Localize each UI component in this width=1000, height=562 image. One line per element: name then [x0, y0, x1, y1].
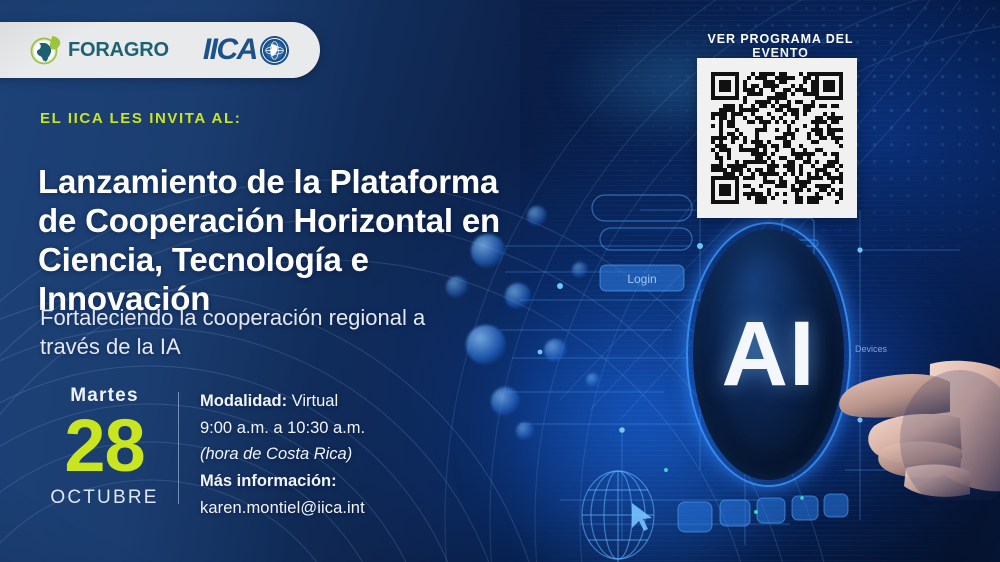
detail-email[interactable]: karen.montiel@iica.int: [200, 495, 460, 522]
date-month: OCTUBRE: [42, 487, 167, 509]
qr-code-panel[interactable]: [697, 58, 857, 218]
eyebrow-text: EL IICA LES INVITA AL:: [40, 110, 241, 127]
iica-logo: IICA: [203, 33, 290, 67]
vertical-divider: [178, 392, 179, 504]
detail-modality-label: Modalidad:: [200, 392, 287, 410]
page-title: Lanzamiento de la Plataforma de Cooperac…: [38, 162, 508, 318]
foragro-wordmark: FORAGRO: [68, 39, 169, 62]
logo-bar: FORAGRO IICA: [0, 22, 320, 78]
subtitle-text: Fortaleciendo la cooperación regional a …: [40, 303, 440, 362]
globe-leaf-icon: [30, 34, 64, 66]
detail-modality-value: Virtual: [292, 392, 338, 410]
detail-timezone: (hora de Costa Rica): [200, 441, 460, 468]
foragro-logo: FORAGRO: [30, 34, 169, 66]
date-day: 28: [42, 411, 167, 481]
qr-code-icon[interactable]: [711, 72, 843, 204]
date-block: Martes 28 OCTUBRE: [42, 385, 167, 509]
detail-more-info-label: Más información:: [200, 472, 337, 490]
event-banner: Login Devices: [0, 0, 1000, 562]
detail-time: 9:00 a.m. a 10:30 a.m.: [200, 415, 460, 442]
event-details: Modalidad: Virtual 9:00 a.m. a 10:30 a.m…: [200, 388, 460, 522]
detail-modality: Modalidad: Virtual: [200, 388, 460, 415]
iica-seal-icon: [259, 35, 290, 66]
iica-wordmark: IICA: [203, 33, 257, 67]
pointing-hand-icon: [810, 290, 1000, 500]
qr-caption: VER PROGRAMA DEL EVENTO: [688, 32, 873, 60]
